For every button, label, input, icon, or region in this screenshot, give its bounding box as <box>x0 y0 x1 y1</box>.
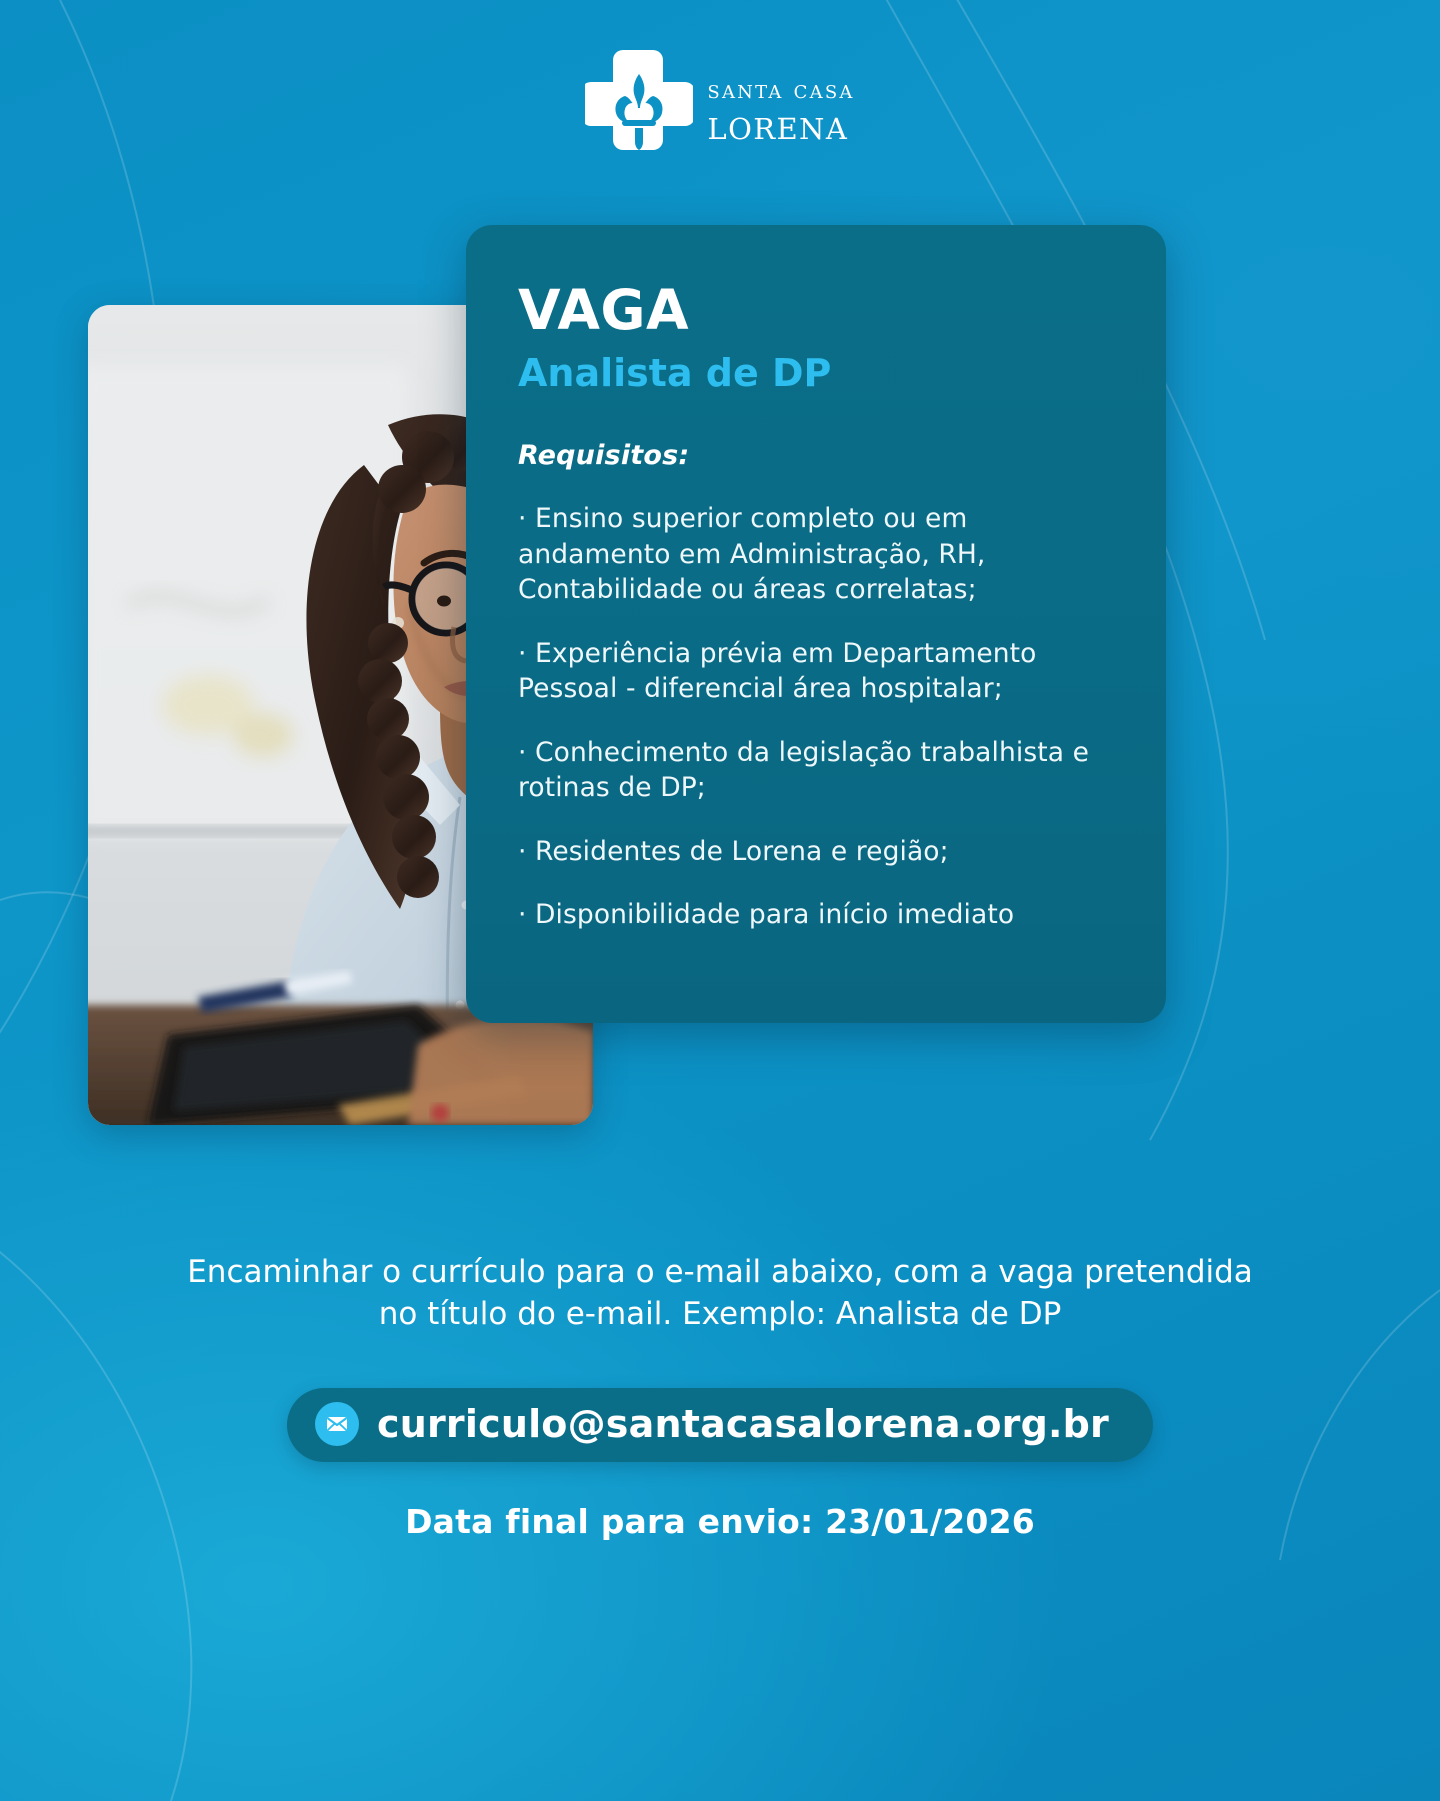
requirements-label: Requisitos: <box>518 440 1114 471</box>
brand-name-line1: Santa Casa <box>707 77 854 102</box>
requirements-list: · Ensino superior completo ou em andamen… <box>518 501 1114 933</box>
vacancy-title: VAGA <box>518 283 1114 338</box>
submission-instruction: Encaminhar o currículo para o e-mail aba… <box>170 1252 1270 1336</box>
envelope-icon <box>315 1402 359 1446</box>
deadline-text: Data final para envio: 23/01/2026 <box>405 1502 1035 1541</box>
requirement-item: · Residentes de Lorena e região; <box>518 834 1114 870</box>
brand-logo: Santa Casa Lorena <box>0 48 1440 150</box>
job-posting-poster: Santa Casa Lorena <box>0 0 1440 1801</box>
requirement-item: · Ensino superior completo ou em andamen… <box>518 501 1114 608</box>
email-address: curriculo@santacasalorena.org.br <box>377 1402 1109 1446</box>
medical-cross-fleur-de-lis-icon <box>585 48 693 150</box>
requirement-item: · Conhecimento da legislação trabalhista… <box>518 735 1114 806</box>
footer: Encaminhar o currículo para o e-mail aba… <box>0 1252 1440 1541</box>
vacancy-card: VAGA Analista de DP Requisitos: · Ensino… <box>466 225 1166 1023</box>
brand-name-line2: Lorena <box>707 104 848 146</box>
email-contact-pill[interactable]: curriculo@santacasalorena.org.br <box>287 1388 1153 1462</box>
requirement-item: · Disponibilidade para início imediato <box>518 897 1114 933</box>
requirement-item: · Experiência prévia em Departamento Pes… <box>518 636 1114 707</box>
vacancy-position: Analista de DP <box>518 354 1114 392</box>
